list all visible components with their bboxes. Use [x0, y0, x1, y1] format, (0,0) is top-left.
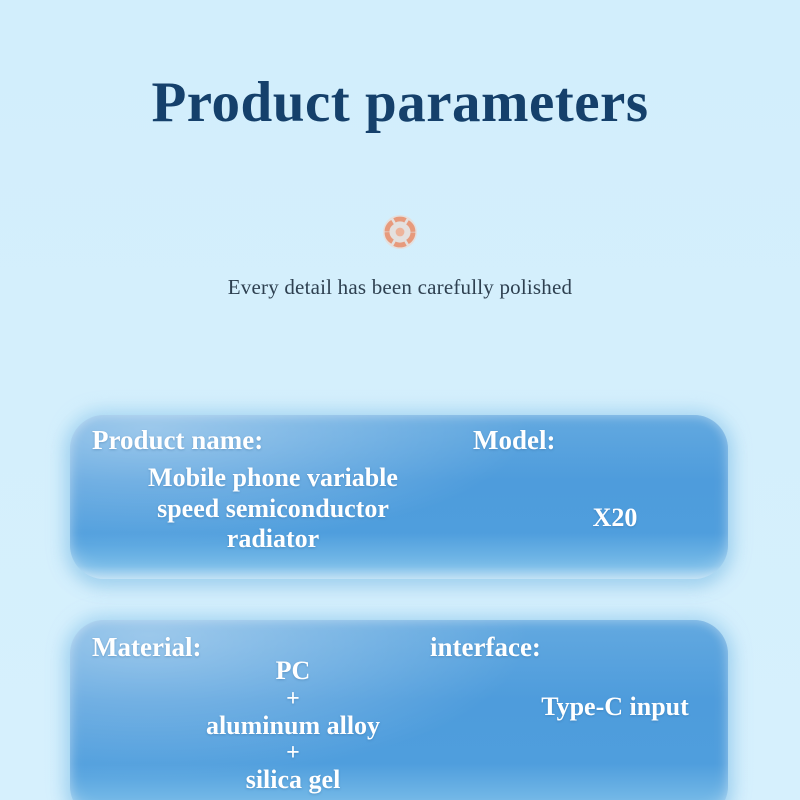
product-name-line: Mobile phone variable [98, 463, 448, 494]
page-subtitle: Every detail has been carefully polished [0, 275, 800, 300]
interface-label: interface: [430, 632, 541, 663]
product-name-line: speed semiconductor [98, 494, 448, 525]
page-title: Product parameters [0, 72, 800, 135]
spec-card-product-name: Product name: Mobile phone variablespeed… [70, 415, 728, 579]
material-line: silica gel [128, 765, 458, 796]
model-value: X20 [540, 503, 690, 534]
interface-value: Type-C input [485, 692, 728, 723]
product-name-label: Product name: [92, 425, 263, 456]
product-name-value: Mobile phone variablespeed semiconductor… [98, 463, 448, 555]
model-label: Model: [473, 425, 555, 456]
rosette-flower-icon [380, 212, 420, 252]
material-line: aluminum alloy [128, 711, 458, 742]
material-plus-separator: + [128, 741, 458, 765]
product-parameters-page: Product parameters Every detail has been… [0, 0, 800, 800]
material-line: PC [128, 656, 458, 687]
product-name-line: radiator [98, 524, 448, 555]
material-value: PC+aluminum alloy+silica gel [128, 656, 458, 796]
material-plus-separator: + [128, 687, 458, 711]
spec-card-material: Material: PC+aluminum alloy+silica gel i… [70, 620, 728, 800]
